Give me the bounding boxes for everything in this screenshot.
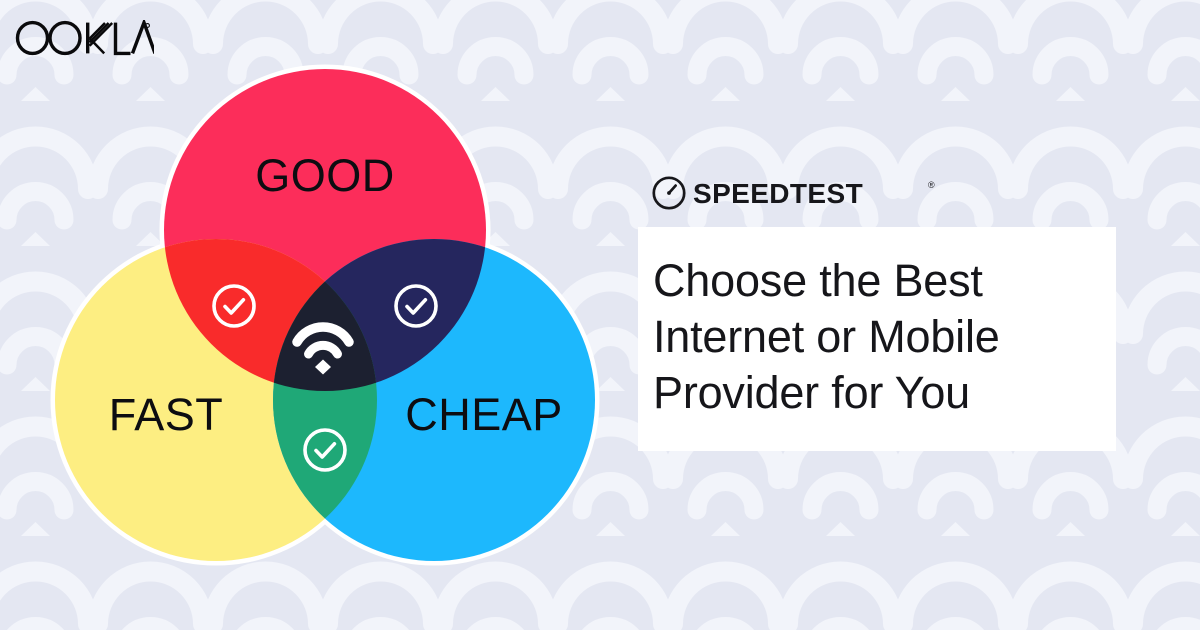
venn-label-cheap: CHEAP bbox=[405, 389, 563, 440]
venn-label-good: GOOD bbox=[255, 150, 395, 201]
right-content-column: SPEEDTEST ® Choose the Best Internet or … bbox=[638, 176, 1118, 451]
speedometer-gauge-icon bbox=[654, 178, 684, 208]
speedtest-logo[interactable]: SPEEDTEST ® bbox=[652, 176, 942, 210]
page-title: Choose the Best Internet or Mobile Provi… bbox=[653, 253, 1116, 421]
ookla-logo[interactable] bbox=[14, 20, 154, 56]
headline-card: Choose the Best Internet or Mobile Provi… bbox=[638, 227, 1116, 451]
venn-diagram: GOOD FAST CHEAP bbox=[50, 60, 650, 580]
speedtest-trademark: ® bbox=[928, 180, 935, 190]
speedtest-wordmark: SPEEDTEST bbox=[693, 178, 863, 209]
social-card: GOOD FAST CHEAP bbox=[0, 0, 1200, 630]
venn-label-fast: FAST bbox=[109, 389, 224, 440]
